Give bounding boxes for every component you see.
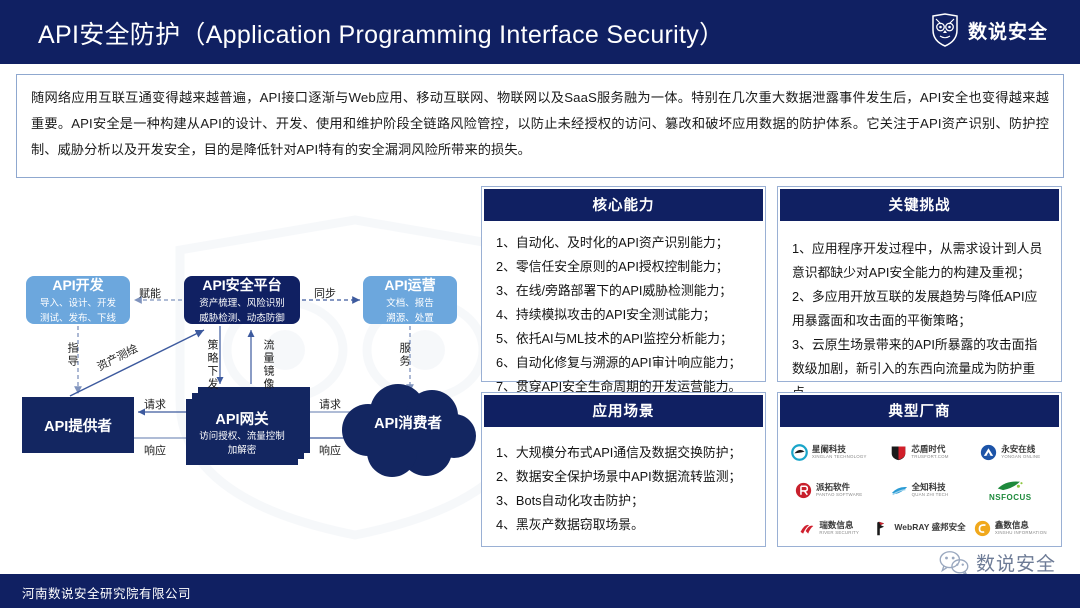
node-api-platform-sub2: 威胁检测、动态防御 [199,312,285,325]
node-api-consumer-title: API消费者 [353,412,463,433]
paragraph-item: 2、多应用开放互联的发展趋势与降低API应用暴露面和攻击面的平衡策略； [792,285,1047,333]
panel-core-list: 1、自动化、及时化的API资产识别能力； 2、零信任安全原则的API授权控制能力… [482,223,765,405]
panel-challenges-body: 1、应用程序开发过程中，从需求设计到人员意识都缺少对API安全能力的构建及重视；… [778,223,1061,411]
panel-challenges-title: 关键挑战 [780,189,1059,221]
panel-vendors-title: 典型厂商 [780,395,1059,427]
vendor-name-en: QUAN ZHI TECH [912,493,949,497]
vendor-text: 永安在线 YONGAN ONLINE [1001,445,1040,459]
vendor-name-cn: 全知科技 [912,483,949,492]
page-title: API安全防护（Application Programming Interfac… [38,15,724,51]
mountain-icon [980,444,997,461]
node-api-dev-sub1: 导入、设计、开发 [40,297,116,310]
node-api-dev-title: API开发 [52,275,103,295]
tower-icon [873,520,890,537]
vendor-name-en: XINSHU INFORMATION [995,531,1047,535]
architecture-diagram: API开发 导入、设计、开发 测试、发布、下线 API安全平台 资产梳理、风险识… [8,184,478,554]
list-item: 2、数据安全保护场景中API数据流转监测； [496,465,751,489]
list-item: 6、自动化修复与溯源的API审计响应能力； [496,351,751,375]
node-api-dev: API开发 导入、设计、开发 测试、发布、下线 [26,276,130,324]
vendor-name-cn: WebRAY 盛邦安全 [894,523,965,532]
node-api-platform-title: API安全平台 [202,275,281,295]
node-api-provider-title: API提供者 [44,415,112,436]
list-item: 1、大规模分布式API通信及数据交换防护； [496,441,751,465]
panel-key-challenges: 关键挑战 1、应用程序开发过程中，从需求设计到人员意识都缺少对API安全能力的构… [777,186,1062,382]
node-api-ops-sub2: 溯源、处置 [386,312,434,325]
intro-paragraph: 随网络应用互联互通变得越来越普遍，API接口逐渐与Web应用、移动互联网、物联网… [31,85,1049,163]
diagram-connectors [8,184,478,554]
shield-icon [890,444,907,461]
brand-name: 数说安全 [968,17,1048,44]
list-item: 1、自动化、及时化的API资产识别能力； [496,231,751,255]
circle-r-icon [795,482,812,499]
panel-core-capabilities: 核心能力 1、自动化、及时化的API资产识别能力； 2、零信任安全原则的API授… [481,186,766,382]
spiral-icon [974,520,991,537]
vendor-logo-item: 星阑科技 XINGLAN TECHNOLOGY [784,433,873,471]
list-item: 5、依托AI与ML技术的API监控分析能力； [496,327,751,351]
list-item: 3、Bots自动化攻击防护； [496,489,751,513]
page-footer: 河南数说安全研究院有限公司 [0,574,1080,608]
node-api-ops-sub1: 文档、报告 [386,297,434,310]
vendor-name-cn: NSFOCUS [989,493,1032,502]
wing-icon [891,482,908,499]
node-api-ops-title: API运营 [384,275,435,295]
vendor-name-en: XINGLAN TECHNOLOGY [812,455,867,459]
leaf-icon [997,479,1023,492]
edge-label-service: 服务 [396,342,412,368]
panel-application-scenarios: 应用场景 1、大规模分布式API通信及数据交换防护； 2、数据安全保护场景中AP… [481,392,766,547]
node-api-dev-sub2: 测试、发布、下线 [40,312,116,325]
vendor-logo-grid: 星阑科技 XINGLAN TECHNOLOGY 芯盾时代 TRUSFORT.CO… [778,429,1061,547]
slide-root: API安全防护（Application Programming Interfac… [0,0,1080,608]
footer-company-name: 河南数说安全研究院有限公司 [22,583,191,602]
edge-label-enable: 赋能 [139,285,161,301]
vendor-text: 瑞数信息 RIVER SECURITY [819,521,859,535]
node-api-platform: API安全平台 资产梳理、风险识别 威胁检测、动态防御 [184,276,300,324]
wechat-credit: 数说安全 [939,549,1056,576]
edge-label-sync: 同步 [314,285,336,301]
owl-icon [930,13,960,47]
edge-label-response-left: 响应 [144,442,166,458]
list-item: 2、零信任安全原则的API授权控制能力； [496,255,751,279]
vendor-name-cn: 星阑科技 [812,445,867,454]
edge-label-request-right: 请求 [319,396,341,412]
list-item: 4、持续模拟攻击的API安全测试能力； [496,303,751,327]
node-api-gateway-title: API网关 [215,408,268,429]
vendor-logo-item: 鑫数信息 XINSHU INFORMATION [966,509,1055,547]
vendor-logo-item: 芯盾时代 TRUSFORT.COM [873,433,965,471]
vendor-text: 星阑科技 XINGLAN TECHNOLOGY [812,445,867,459]
edge-label-request-left: 请求 [144,396,166,412]
vendor-logo-item: NSFOCUS [966,471,1055,509]
vendor-logo-item: 派拓软件 PANTAO SOFTWARE [784,471,873,509]
vendor-name-en: YONGAN ONLINE [1001,455,1040,459]
vendor-text: WebRAY 盛邦安全 [894,523,965,533]
node-api-gateway-sub1: 访问授权、流量控制 [199,431,285,443]
list-item: 4、黑灰产数据窃取场景。 [496,513,751,537]
node-api-gateway-stack: API网关 访问授权、流量控制 加解密 [186,387,310,465]
vendor-text: 派拓软件 PANTAO SOFTWARE [816,483,862,497]
vendor-name-en: TRUSFORT.COM [911,455,948,459]
node-api-platform-sub1: 资产梳理、风险识别 [199,297,285,310]
list-item: 3、在线/旁路部署下的API威胁检测能力； [496,279,751,303]
vendor-logo-item: 瑞数信息 RIVER SECURITY [784,509,873,547]
vendor-text: 鑫数信息 XINSHU INFORMATION [995,521,1047,535]
circle-swoosh-icon [791,444,808,461]
panel-core-title: 核心能力 [484,189,763,221]
vendor-name-cn: 瑞数信息 [819,521,859,530]
vendor-name-cn: 永安在线 [1001,445,1040,454]
vendor-name-en: RIVER SECURITY [819,531,859,535]
vendor-name-cn: 鑫数信息 [995,521,1047,530]
node-api-ops: API运营 文档、报告 溯源、处置 [363,276,457,324]
vendor-logo-item: WebRAY 盛邦安全 [873,509,965,547]
panel-scenarios-title: 应用场景 [484,395,763,427]
node-api-gateway: API网关 访问授权、流量控制 加解密 [186,399,298,465]
vendor-name-en: PANTAO SOFTWARE [816,493,862,497]
edge-label-traffic-mirror: 流量镜像 [260,339,276,391]
brand-logo: 数说安全 [930,13,1048,47]
vendor-name-cn: 派拓软件 [816,483,862,492]
wechat-icon [939,550,969,576]
edge-label-policy-push: 策略下发 [204,339,220,391]
edge-label-response-right: 响应 [319,442,341,458]
page-header: API安全防护（Application Programming Interfac… [0,0,1080,64]
intro-box: 随网络应用互联互通变得越来越普遍，API接口逐渐与Web应用、移动互联网、物联网… [16,74,1064,178]
vendor-text: 芯盾时代 TRUSFORT.COM [911,445,948,459]
node-api-gateway-sub2: 加解密 [228,445,257,457]
node-api-provider: API提供者 [22,397,134,453]
wechat-label: 数说安全 [976,549,1056,576]
paragraph-item: 1、应用程序开发过程中，从需求设计到人员意识都缺少对API安全能力的构建及重视； [792,237,1047,285]
edge-label-guide: 指导 [64,342,80,368]
vendor-name-cn: 芯盾时代 [911,445,948,454]
panel-typical-vendors: 典型厂商 星阑科技 XINGLAN TECHNOLOGY 芯盾时代 [777,392,1062,547]
panel-scenarios-list: 1、大规模分布式API通信及数据交换防护； 2、数据安全保护场景中API数据流转… [482,429,765,543]
vendor-logo-item: 永安在线 YONGAN ONLINE [966,433,1055,471]
vendor-text: 全知科技 QUAN ZHI TECH [912,483,949,497]
vendor-logo-item: 全知科技 QUAN ZHI TECH [873,471,965,509]
swirl-icon [798,520,815,537]
